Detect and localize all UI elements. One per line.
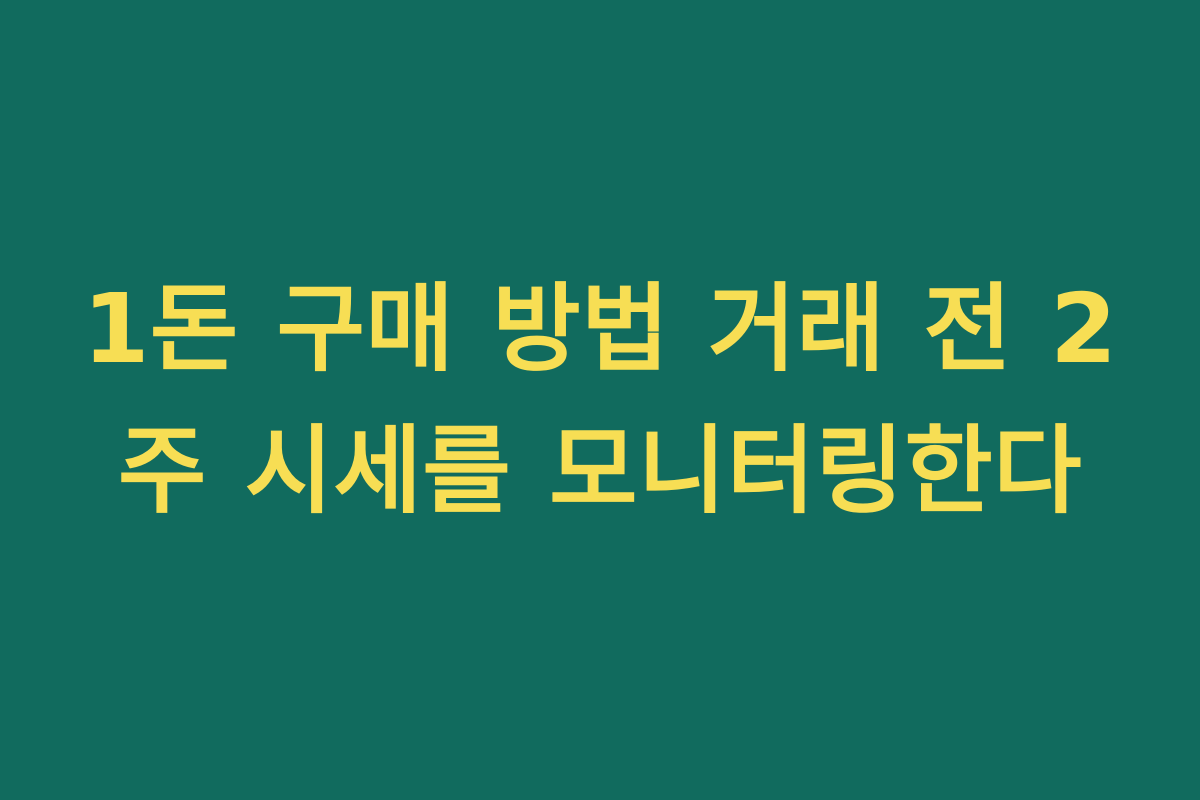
- headline-line-1: 1돈 구매 방법 거래 전 2: [80, 261, 1120, 397]
- text-card-canvas: 1돈 구매 방법 거래 전 2 주 시세를 모니터링한다: [0, 0, 1200, 800]
- headline-line-2: 주 시세를 모니터링한다: [80, 403, 1120, 539]
- headline: 1돈 구매 방법 거래 전 2 주 시세를 모니터링한다: [80, 261, 1120, 540]
